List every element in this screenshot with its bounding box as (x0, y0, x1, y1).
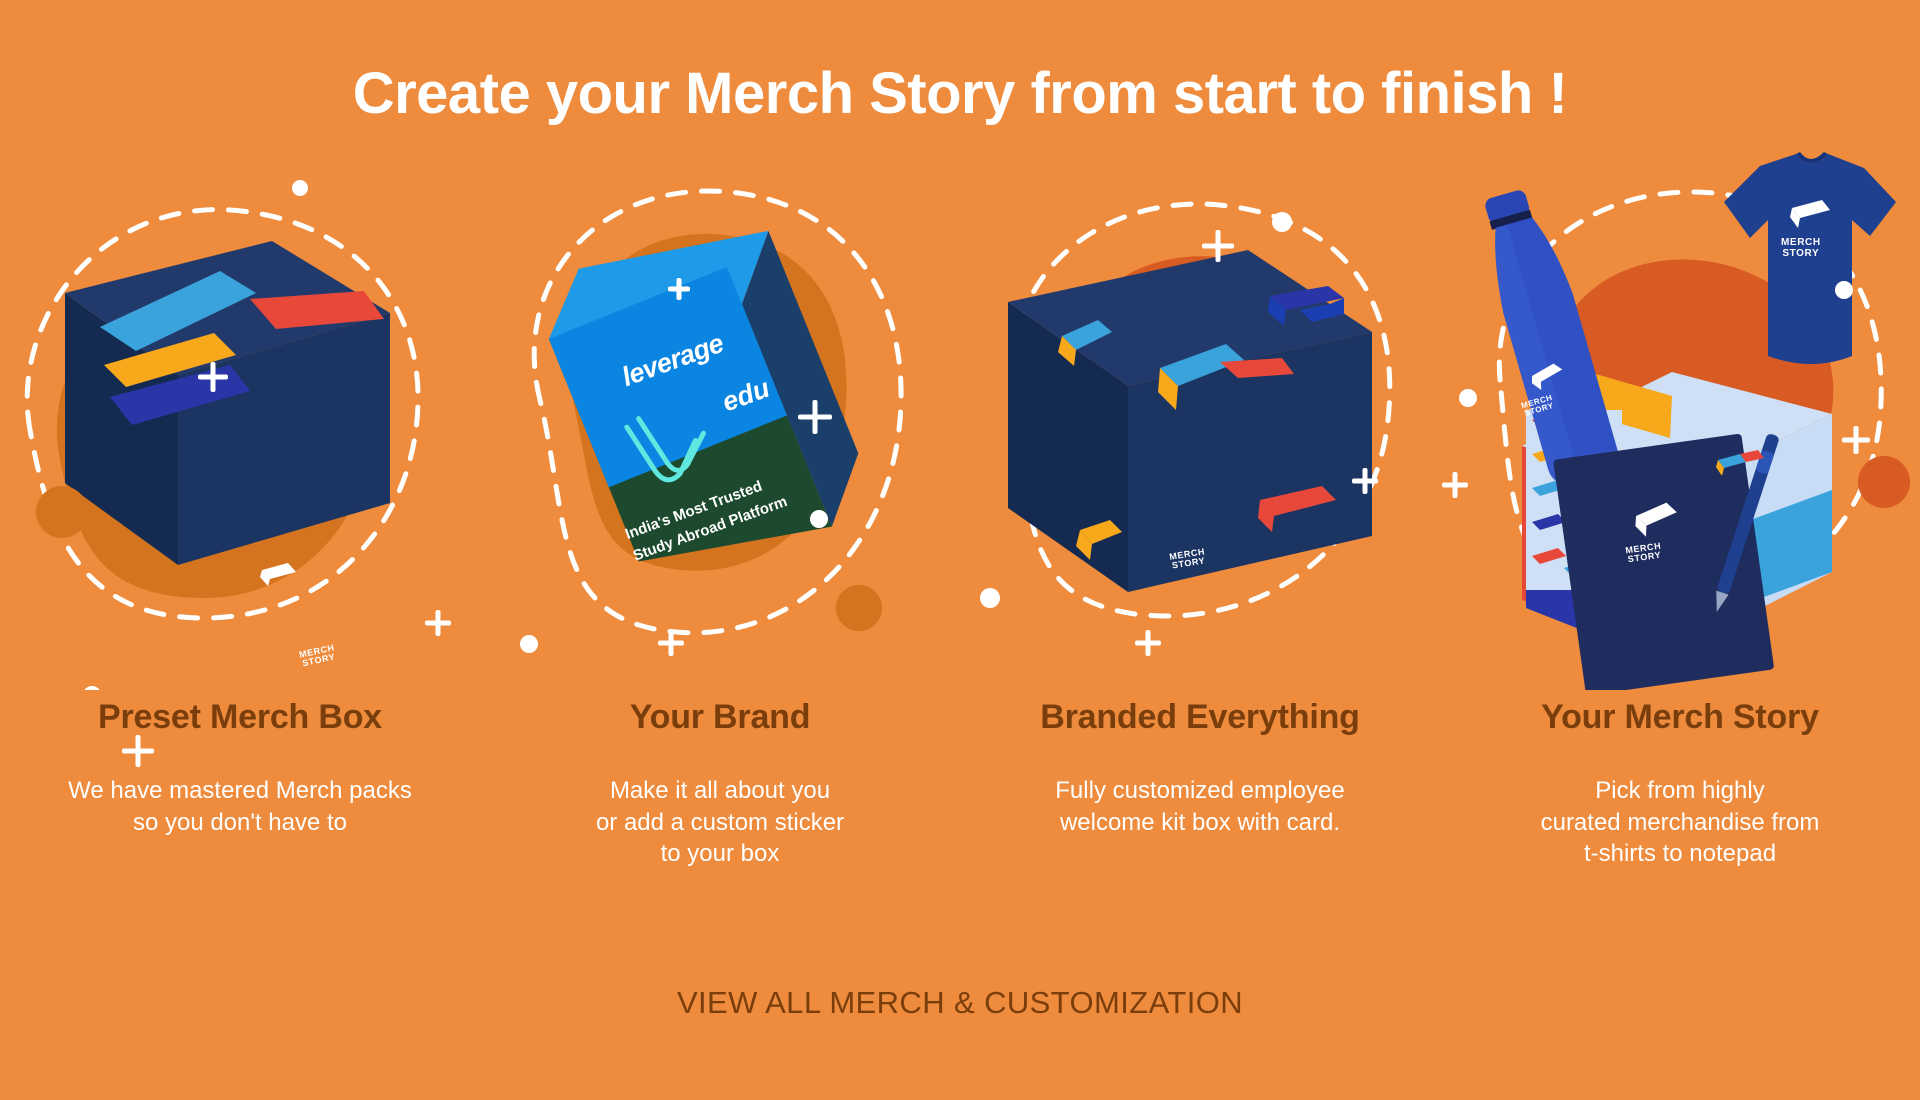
preset-merch-box-image: MERCHSTORY (0, 130, 480, 690)
dot-decoration-icon (810, 510, 828, 528)
card-title: Preset Merch Box (0, 698, 480, 737)
feature-card-branded-everything: MERCHSTORY Branded Everything Fully cust… (960, 130, 1440, 930)
card-title: Branded Everything (960, 698, 1440, 737)
caption-block: Preset Merch Box We have mastered Merch … (0, 698, 480, 838)
plus-decoration-icon (1135, 630, 1161, 656)
card-title: Your Merch Story (1440, 698, 1920, 737)
feature-card-your-brand: leverage edu India's Most Trusted Study … (480, 130, 960, 930)
preset-merch-box-illustration (0, 130, 480, 690)
caption-block: Your Brand Make it all about you or add … (480, 698, 960, 870)
view-all-merch-link[interactable]: VIEW ALL MERCH & CUSTOMIZATION (0, 985, 1920, 1021)
merch-kit-collection-image: MERCHSTORY MERCHSTORY MERCHSTORY MERCHST… (1440, 130, 1920, 690)
plus-decoration-icon (198, 362, 228, 392)
tshirt-logo-label: MERCHSTORY (1781, 238, 1821, 259)
card-body: Pick from highly curated merchandise fro… (1440, 775, 1920, 870)
plus-decoration-icon (425, 610, 451, 636)
card-body: We have mastered Merch packs so you don'… (0, 775, 480, 838)
page-title: Create your Merch Story from start to fi… (0, 62, 1920, 126)
plus-decoration-icon (668, 278, 690, 300)
caption-block: Your Merch Story Pick from highly curate… (1440, 698, 1920, 870)
card-body: Make it all about you or add a custom st… (480, 775, 960, 870)
plus-decoration-icon (798, 400, 832, 434)
branded-everything-box-image: MERCHSTORY (960, 130, 1440, 690)
branded-leverage-edu-box-image: leverage edu India's Most Trusted Study … (480, 130, 960, 690)
feature-card-preset-merch-box: MERCHSTORY Preset Merch Box We have mast… (0, 130, 480, 930)
merch-kit-illustration (1440, 130, 1920, 690)
plus-decoration-icon (1842, 426, 1870, 454)
plus-decoration-icon (1352, 468, 1378, 494)
dot-decoration-icon (520, 635, 538, 653)
plus-decoration-icon (1202, 230, 1234, 262)
card-title: Your Brand (480, 698, 960, 737)
plus-decoration-icon (1442, 472, 1468, 498)
promo-banner: Create your Merch Story from start to fi… (0, 0, 1920, 1100)
feature-card-your-merch-story: MERCHSTORY MERCHSTORY MERCHSTORY MERCHST… (1440, 130, 1920, 930)
dot-decoration-icon (836, 585, 882, 631)
card-body: Fully customized employee welcome kit bo… (960, 775, 1440, 838)
card-logo-label: MERCHSTORY (1708, 475, 1740, 492)
plus-decoration-icon (658, 630, 684, 656)
branded-everything-illustration (960, 130, 1440, 690)
feature-columns: MERCHSTORY Preset Merch Box We have mast… (0, 130, 1920, 930)
caption-block: Branded Everything Fully customized empl… (960, 698, 1440, 838)
